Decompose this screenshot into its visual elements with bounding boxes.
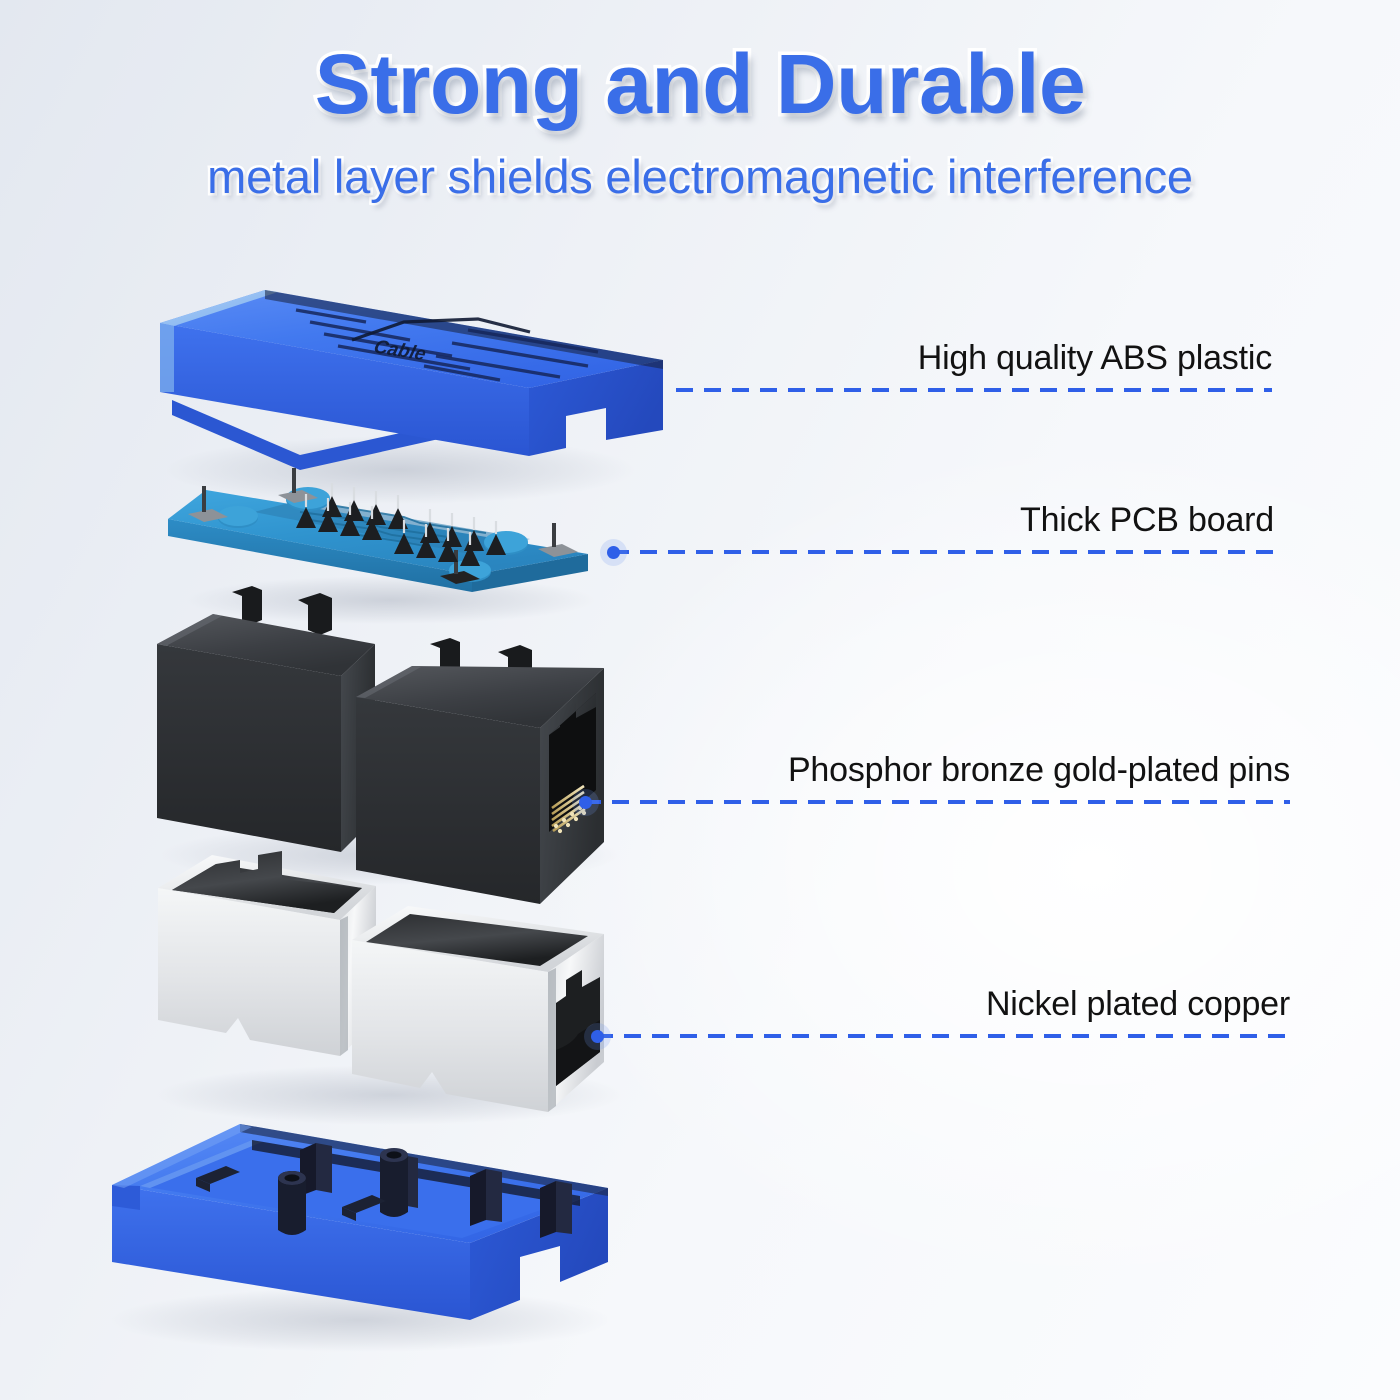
callout-label: Nickel plated copper xyxy=(986,985,1290,1024)
callout-label: Thick PCB board xyxy=(1020,501,1274,540)
callout-dashed-line xyxy=(676,388,1272,392)
callout-dot xyxy=(607,546,620,559)
layer-top-cover: Cable xyxy=(160,290,663,504)
metal-shield-front xyxy=(352,906,604,1112)
product-exploded-view: Cable xyxy=(0,0,1400,1400)
layer-metal-shields xyxy=(155,851,625,1125)
header: Strong and Durable metal layer shields e… xyxy=(0,0,1400,204)
callout-abs-plastic: High quality ABS plastic xyxy=(676,330,1272,392)
page-title: Strong and Durable xyxy=(0,0,1400,133)
callout-nickel-copper: Nickel plated copper xyxy=(596,976,1290,1038)
callout-dashed-line xyxy=(612,550,1274,554)
product-illustration: Cable xyxy=(0,0,1400,1400)
rj45-jack-rear xyxy=(157,586,375,852)
metal-shield-rear xyxy=(158,851,376,1056)
callout-dashed-line xyxy=(596,1034,1290,1038)
callout-dot xyxy=(591,1030,604,1043)
callout-dashed-line xyxy=(584,800,1290,804)
layer-rj45-jacks xyxy=(157,586,620,904)
callout-gold-pins: Phosphor bronze gold-plated pins xyxy=(584,742,1290,804)
callout-dot xyxy=(579,796,592,809)
callout-label: High quality ABS plastic xyxy=(918,339,1272,378)
callout-label: Phosphor bronze gold-plated pins xyxy=(788,751,1290,790)
page-subtitle: metal layer shields electromagnetic inte… xyxy=(0,133,1400,204)
callout-pcb-board: Thick PCB board xyxy=(612,492,1274,554)
infographic-canvas: Cable xyxy=(0,0,1400,1400)
rj45-jack-front xyxy=(356,638,604,904)
layer-bottom-housing xyxy=(110,1124,610,1352)
